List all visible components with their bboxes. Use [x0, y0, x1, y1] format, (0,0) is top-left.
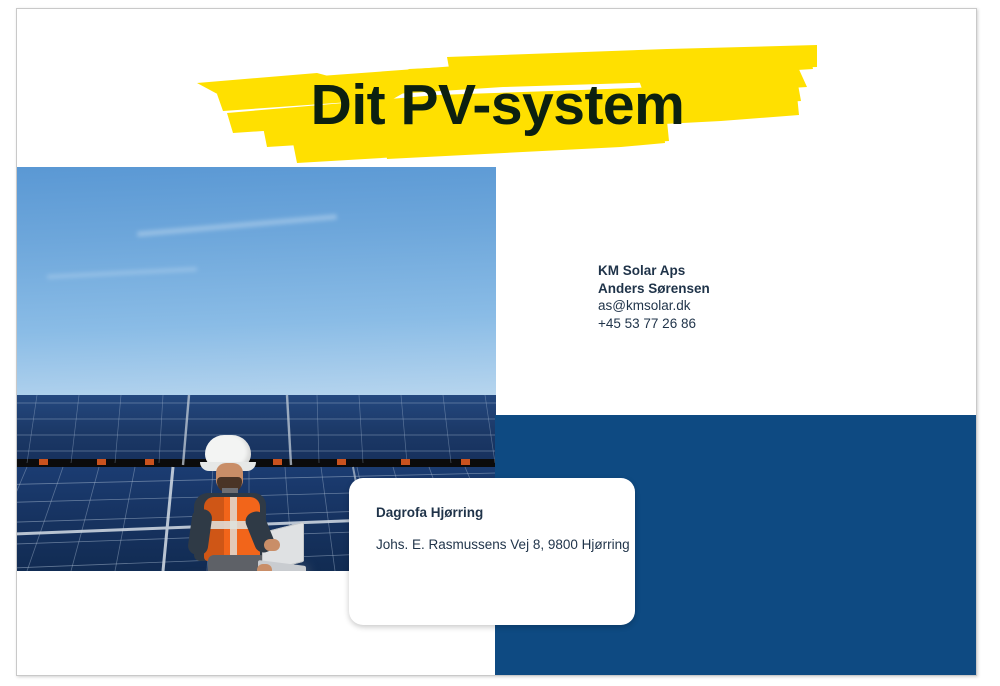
- site-info-card: Dagrofa Hjørring Johs. E. Rasmussens Vej…: [349, 478, 635, 625]
- page-title: Dit PV-system: [17, 75, 977, 135]
- sky-background: [17, 167, 496, 405]
- contact-person: Anders Sørensen: [598, 280, 710, 298]
- contact-email[interactable]: as@kmsolar.dk: [598, 297, 710, 315]
- site-name: Dagrofa Hjørring: [376, 505, 483, 520]
- contact-company: KM Solar Aps: [598, 262, 710, 280]
- contact-phone[interactable]: +45 53 77 26 86: [598, 315, 710, 333]
- hand: [264, 539, 280, 551]
- hand: [257, 564, 272, 571]
- technician-figure: [172, 435, 302, 571]
- vest-reflective-stripe: [230, 497, 237, 561]
- contact-block: KM Solar Aps Anders Sørensen as@kmsolar.…: [598, 262, 710, 332]
- presentation-slide: Dit PV-system KM Solar Aps Anders Sørens…: [16, 8, 977, 676]
- site-address: Johs. E. Rasmussens Vej 8, 9800 Hjørring: [376, 537, 630, 552]
- title-block: Dit PV-system: [17, 39, 977, 169]
- slide-canvas: Dit PV-system KM Solar Aps Anders Sørens…: [0, 0, 1000, 686]
